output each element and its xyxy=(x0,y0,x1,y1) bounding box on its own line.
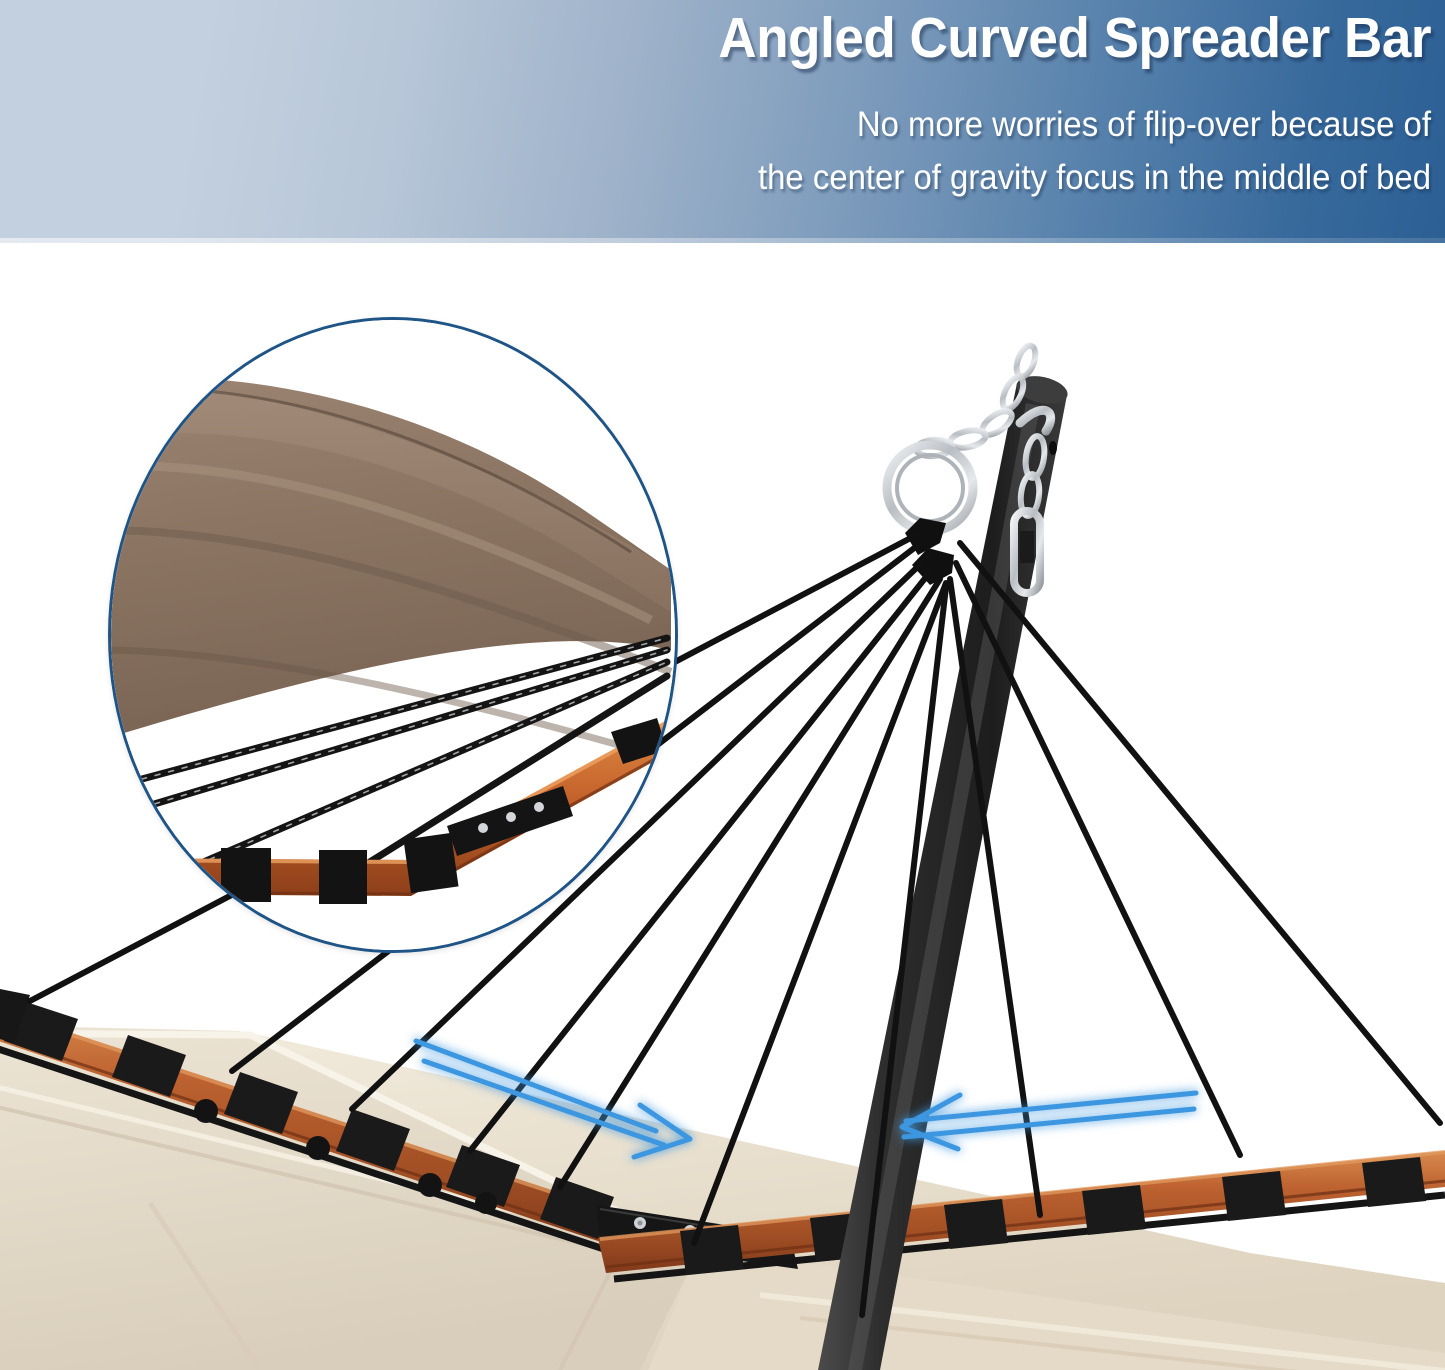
page-title: Angled Curved Spreader Bar xyxy=(100,0,1431,70)
right-annotation-arrow xyxy=(902,1093,1196,1149)
closeup-illustration xyxy=(111,320,675,950)
header-text-block: Angled Curved Spreader Bar No more worri… xyxy=(0,0,1445,243)
header-banner: Angled Curved Spreader Bar No more worri… xyxy=(0,0,1445,243)
product-feature-image: Angled Curved Spreader Bar No more worri… xyxy=(0,0,1445,1370)
subtitle-line-2: the center of gravity focus in the middl… xyxy=(86,149,1431,203)
closeup-inset xyxy=(108,317,678,953)
subtitle-line-1: No more worries of flip-over because of xyxy=(86,70,1431,150)
